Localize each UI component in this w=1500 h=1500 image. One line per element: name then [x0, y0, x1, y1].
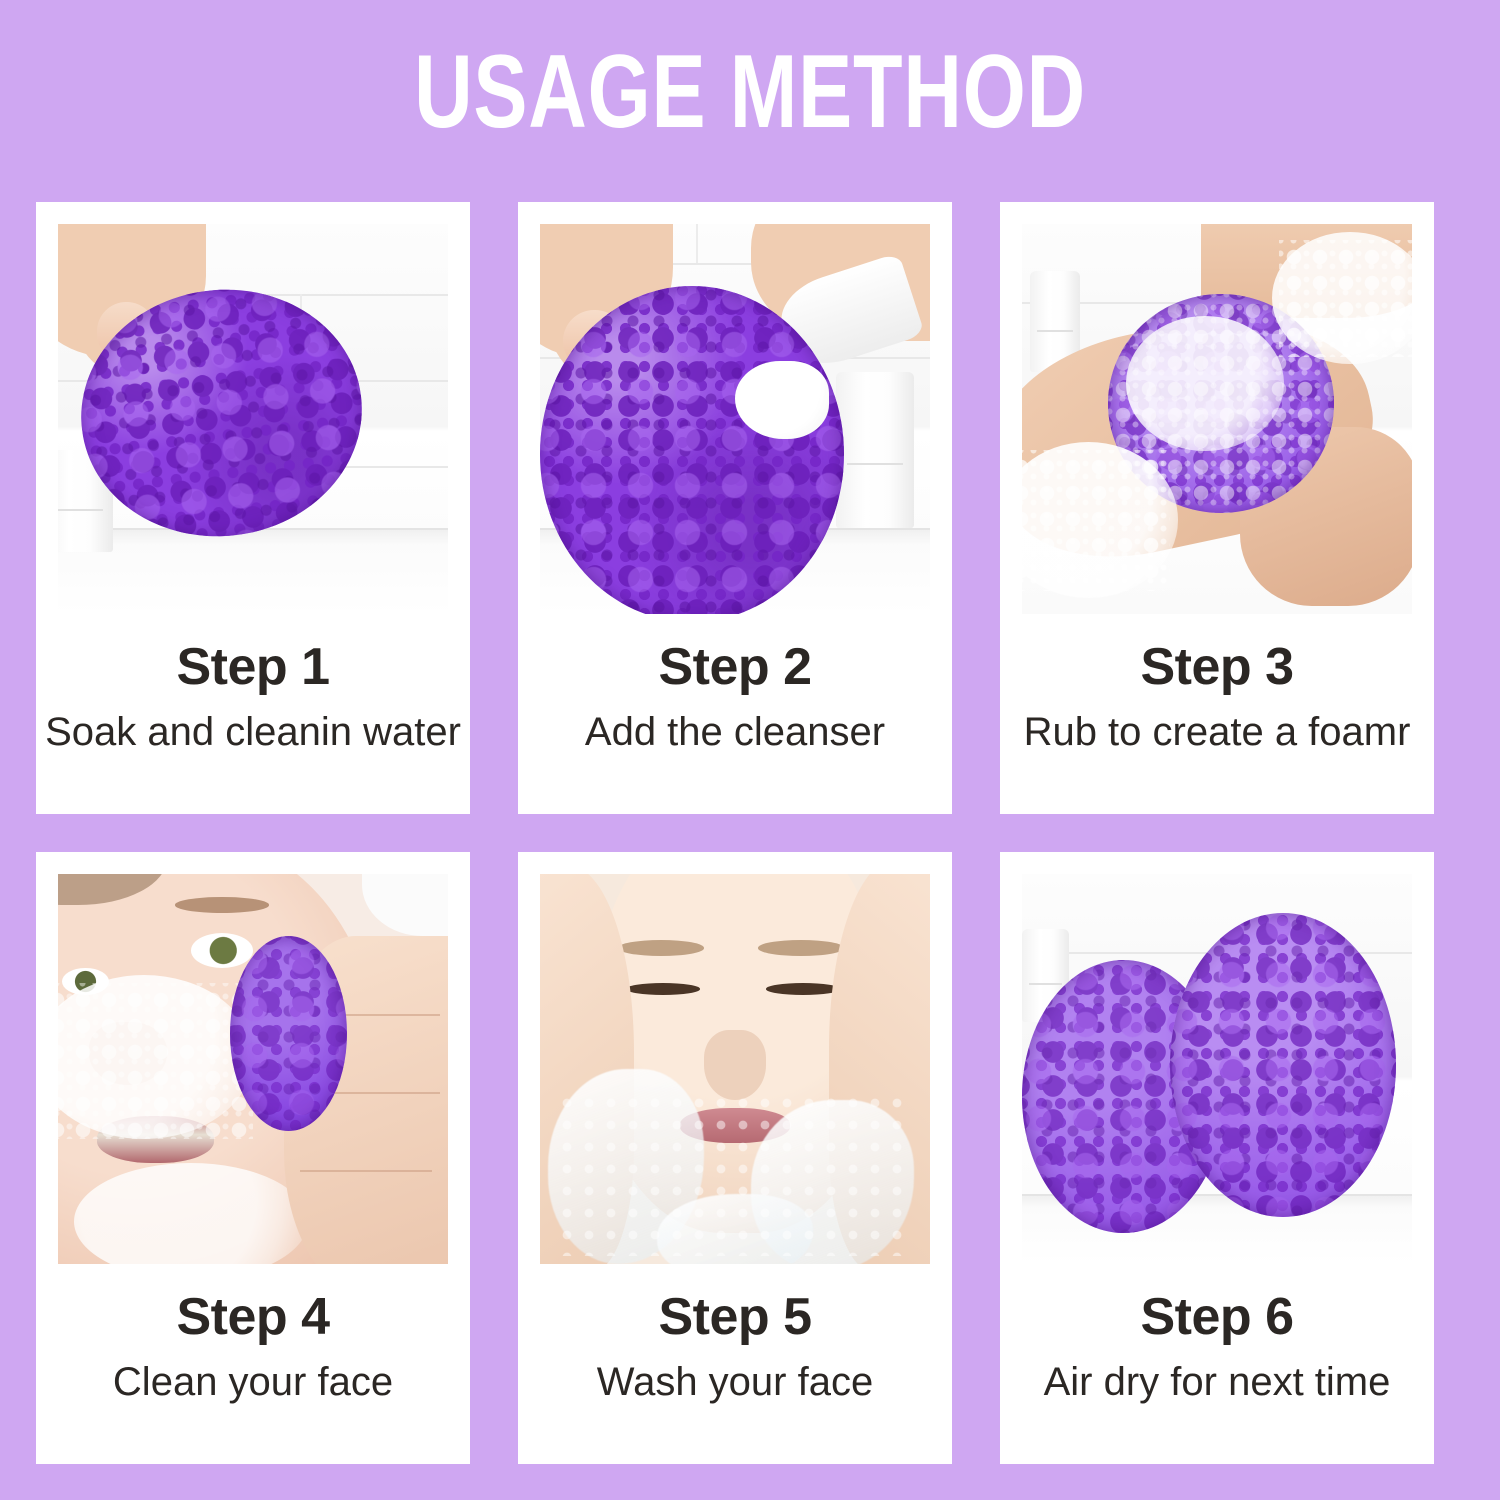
- eyebrow-icon: [175, 897, 269, 913]
- step-card-2[interactable]: Step 2 Add the cleanser: [518, 202, 952, 814]
- eyebrow-left-icon: [618, 940, 704, 956]
- sponge-icon: [230, 936, 347, 1131]
- page-title: USAGE METHOD: [165, 34, 1335, 150]
- step-1-photo: [58, 224, 448, 614]
- bubbles-icon: [1022, 450, 1170, 590]
- eyebrow-right-icon: [758, 940, 844, 956]
- eye-right-icon: [766, 983, 840, 995]
- step-card-3[interactable]: Step 3 Rub to create a foamr: [1000, 202, 1434, 814]
- step-5-photo: [540, 874, 930, 1264]
- step-5-description: Wash your face: [597, 1359, 873, 1405]
- sponge-icon: [67, 274, 376, 552]
- nose-icon: [704, 1030, 766, 1100]
- steps-grid: Step 1 Soak and cleanin water: [36, 202, 1464, 1464]
- step-2-description: Add the cleanser: [585, 709, 885, 755]
- step-card-5[interactable]: Step 5 Wash your face: [518, 852, 952, 1464]
- step-1-description: Soak and cleanin water: [45, 709, 461, 755]
- face-bubbles-icon: [58, 983, 253, 1139]
- step-2-label: Step 2: [658, 640, 811, 695]
- bubbles-upper-icon: [1279, 240, 1412, 357]
- step-3-label: Step 3: [1140, 640, 1293, 695]
- step-2-photo: [540, 224, 930, 614]
- step-3-description: Rub to create a foamr: [1024, 709, 1411, 755]
- towel-icon: [362, 874, 448, 936]
- step-5-label: Step 5: [658, 1290, 811, 1345]
- step-6-photo: [1022, 874, 1412, 1264]
- step-card-1[interactable]: Step 1 Soak and cleanin water: [36, 202, 470, 814]
- step-6-label: Step 6: [1140, 1290, 1293, 1345]
- sponge-icon: [540, 286, 844, 614]
- step-card-4[interactable]: Step 4 Clean your face: [36, 852, 470, 1464]
- step-4-description: Clean your face: [113, 1359, 393, 1405]
- eye-left-icon: [626, 983, 700, 995]
- step-card-6[interactable]: Step 6 Air dry for next time: [1000, 852, 1434, 1464]
- finger-line-3-icon: [300, 1170, 433, 1172]
- step-1-label: Step 1: [176, 640, 329, 695]
- step-4-label: Step 4: [176, 1290, 329, 1345]
- cleanser-blob-icon: [735, 361, 829, 439]
- step-3-photo: [1022, 224, 1412, 614]
- step-6-description: Air dry for next time: [1044, 1359, 1391, 1405]
- step-4-photo: [58, 874, 448, 1264]
- bottle-icon: [836, 372, 914, 528]
- sponge-front-icon: [1170, 913, 1396, 1217]
- water-droplets-icon: [556, 1092, 907, 1256]
